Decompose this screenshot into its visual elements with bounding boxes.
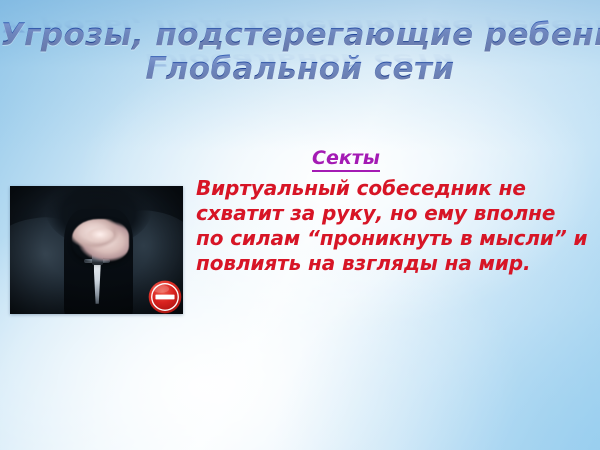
no-entry-icon [148,280,182,314]
text-content: Секты Виртуальный собеседник не схватит … [196,146,592,276]
page-title: Угрозы, подстерегающие ребенка в Глобаль… [0,18,600,86]
body-line-2: схватит за руку, но ему вполне [196,201,592,226]
body-line-4: повлиять на взгляды на мир. [196,251,592,276]
section-subheading: Секты [196,146,592,170]
title-line-2: Глобальной сети [0,52,600,86]
body-paragraph: Виртуальный собеседник не схватит за рук… [196,176,592,276]
slide-canvas: Угрозы, подстерегающие ребенка в Глобаль… [0,0,600,450]
section-subheading-text: Секты [312,147,380,172]
body-line-1: Виртуальный собеседник не [196,176,592,201]
title-line-1: Угрозы, подстерегающие ребенка в [0,18,600,52]
body-line-3: по силам “проникнуть в мысли” и [196,226,592,251]
